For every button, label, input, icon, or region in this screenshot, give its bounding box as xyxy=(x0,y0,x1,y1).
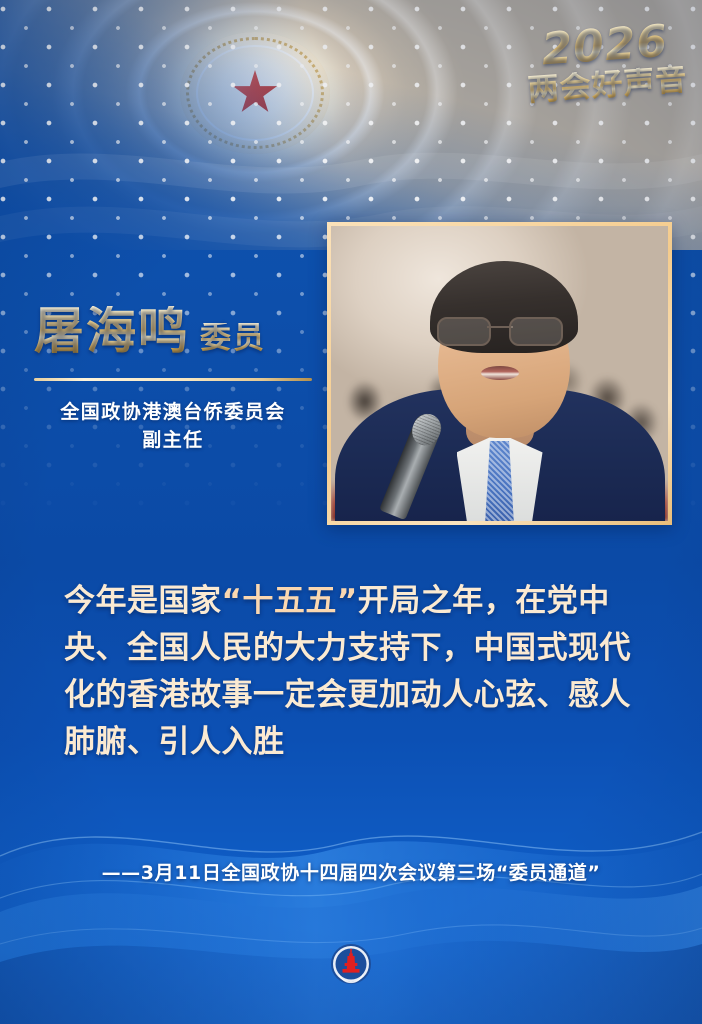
quote-highlight: “十五五” xyxy=(222,583,358,619)
portrait-mouth xyxy=(481,366,519,380)
glasses-left-lens xyxy=(437,317,491,346)
speaker-role-line-1: 全国政协港澳台侨委员会 xyxy=(34,399,312,427)
poster-root: 2026 两会好声音 屠海鸣 xyxy=(0,0,702,1024)
bottom-wave-decoration xyxy=(0,794,702,1024)
speaker-name-row: 屠海鸣 委员 xyxy=(34,306,316,356)
speaker-title-suffix: 委员 xyxy=(200,323,266,354)
speaker-role-line-2: 副主任 xyxy=(34,427,312,455)
gold-divider xyxy=(34,378,312,381)
attribution-line: ——3月11日全国政协十四届四次会议第三场“委员通道” xyxy=(0,858,702,885)
quote-part-1: 今年是国家 xyxy=(64,583,222,619)
portrait-frame xyxy=(327,222,672,525)
delegate-portrait-photo xyxy=(331,226,668,521)
portrait-glasses-icon xyxy=(437,317,563,343)
quote-text: 今年是国家“十五五”开局之年，在党中央、全国人民的大力支持下，中国式现代化的香港… xyxy=(64,578,644,766)
header-logo: 2026 两会好声音 xyxy=(524,19,689,107)
speaker-name-block: 屠海鸣 委员 全国政协港澳台侨委员会 副主任 xyxy=(34,306,316,454)
speaker-name: 屠海鸣 xyxy=(34,306,190,356)
glasses-right-lens xyxy=(509,317,563,346)
speaker-role: 全国政协港澳台侨委员会 副主任 xyxy=(34,399,312,454)
news-agency-emblem-icon xyxy=(331,944,371,984)
